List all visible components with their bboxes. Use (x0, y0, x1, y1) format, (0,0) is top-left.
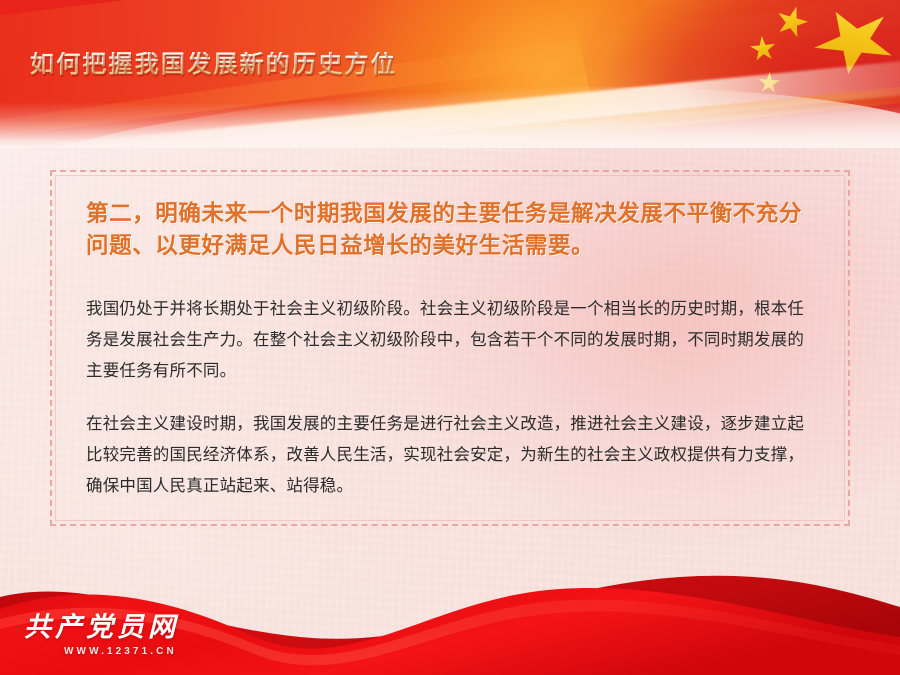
page-title: 如何把握我国发展新的历史方位 (30, 52, 397, 76)
footer-logo-text: 共产党员网 (24, 613, 254, 643)
banner-bottom-fade (0, 102, 900, 148)
section-heading: 第二，明确未来一个时期我国发展的主要任务是解决发展不平衡不充分问题、以更好满足人… (86, 198, 818, 263)
body-paragraph-1: 我国仍处于并将长期处于社会主义初级阶段。社会主义初级阶段是一个相当长的历史时期，… (86, 293, 818, 386)
body-paragraph-2: 在社会主义建设时期，我国发展的主要任务是进行社会主义改造，推进社会主义建设，逐步… (86, 408, 818, 501)
header-banner: 如何把握我国发展新的历史方位 (0, 0, 900, 148)
poster-page: 如何把握我国发展新的历史方位 第二，明确未来一个时期我国发展的主要任务是解决发展… (0, 0, 900, 675)
footer-logo-url: WWW.12371.CN (64, 646, 254, 657)
content-body: 第二，明确未来一个时期我国发展的主要任务是解决发展不平衡不充分问题、以更好满足人… (86, 198, 818, 501)
footer-logo[interactable]: 共产党员网 WWW.12371.CN (24, 613, 254, 657)
